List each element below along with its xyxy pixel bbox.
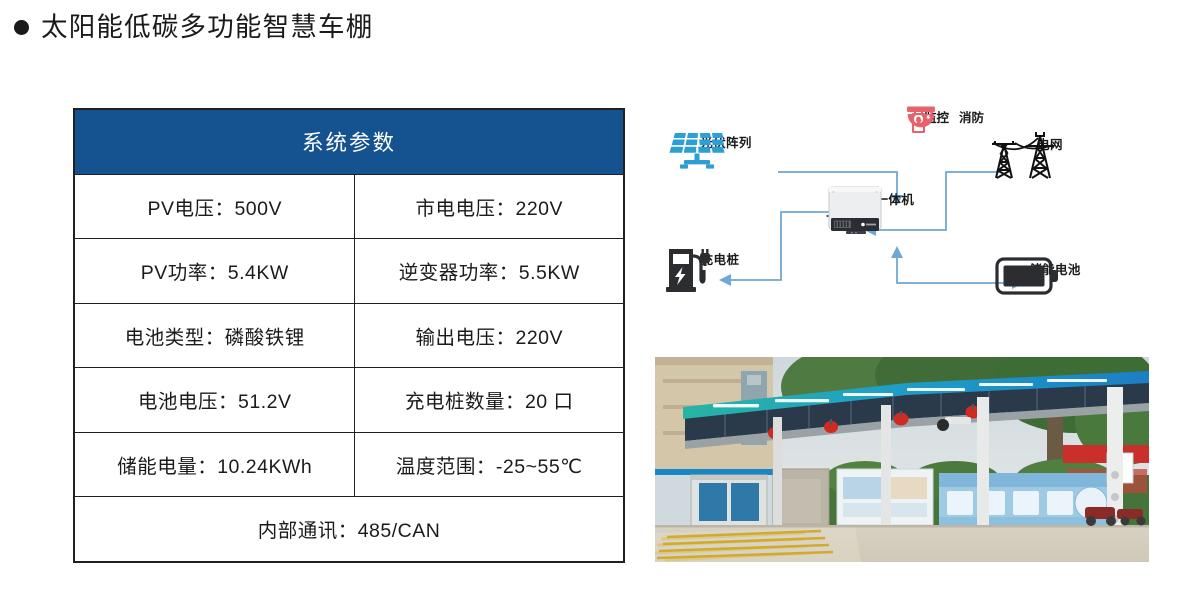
table-row: PV电压：500V 市电电压：220V [74,174,624,239]
slide-root: 太阳能低碳多功能智慧车棚 系统参数 PV电压：500V 市电电压：220V PV… [0,0,1200,605]
param-cell: 输出电压：220V [355,303,624,368]
param-cell: 电池电压：51.2V [74,368,355,433]
table-header-cell: 系统参数 [74,109,624,174]
diagram-node-fire: 消防 [959,105,984,126]
table-row: PV功率：5.4KW 逆变器功率：5.5KW [74,239,624,304]
table-header-row: 系统参数 [74,109,624,174]
bullet-dot-icon [14,20,29,35]
table-row: 电池类型：磷酸铁锂 输出电压：220V [74,303,624,368]
diagram-node-sensors: 监控 消防 [904,105,1004,126]
battery-icon [995,255,1061,297]
diagram-node-battery: 储能电池 [995,255,1115,278]
power-tower-icon [990,130,1060,185]
carport-photo-illustration [655,357,1149,562]
param-cell: 逆变器功率：5.5KW [355,239,624,304]
diagram-node-inverter: 光储一体机 [822,185,942,208]
param-cell: 电池类型：磷酸铁锂 [74,303,355,368]
sensor-icon-pair: 监控 消防 [924,105,984,126]
table-row: 储能电量：10.24KWh 温度范围：-25~55℃ [74,432,624,497]
param-cell-full: 内部通讯：485/CAN [74,497,624,562]
page-title: 太阳能低碳多功能智慧车棚 [14,14,373,41]
diagram-node-charging-pile: 充电桩 [660,245,780,268]
solar-panel-icon [666,128,728,176]
diagram-node-label: 消防 [959,107,984,126]
param-cell: 储能电量：10.24KWh [74,432,355,497]
table-row: 内部通讯：485/CAN [74,497,624,562]
param-cell: 充电桩数量：20 口 [355,368,624,433]
param-cell: PV电压：500V [74,174,355,239]
table-row: 电池电压：51.2V 充电桩数量：20 口 [74,368,624,433]
solar-carport-photo [655,357,1149,562]
inverter-icon [822,185,890,243]
diagram-node-pv-array: 光伏阵列 [666,128,786,151]
system-parameters-table: 系统参数 PV电压：500V 市电电压：220V PV功率：5.4KW 逆变器功… [73,108,625,563]
page-title-text: 太阳能低碳多功能智慧车棚 [41,14,373,41]
param-cell: PV功率：5.4KW [74,239,355,304]
energy-flow-diagram: 光伏阵列 监控 [650,100,1160,350]
charging-pile-icon [660,245,720,297]
param-cell: 温度范围：-25~55℃ [355,432,624,497]
diagram-node-grid: 电网 [990,130,1110,153]
fire-extinguisher-icon [904,105,936,135]
param-cell: 市电电压：220V [355,174,624,239]
